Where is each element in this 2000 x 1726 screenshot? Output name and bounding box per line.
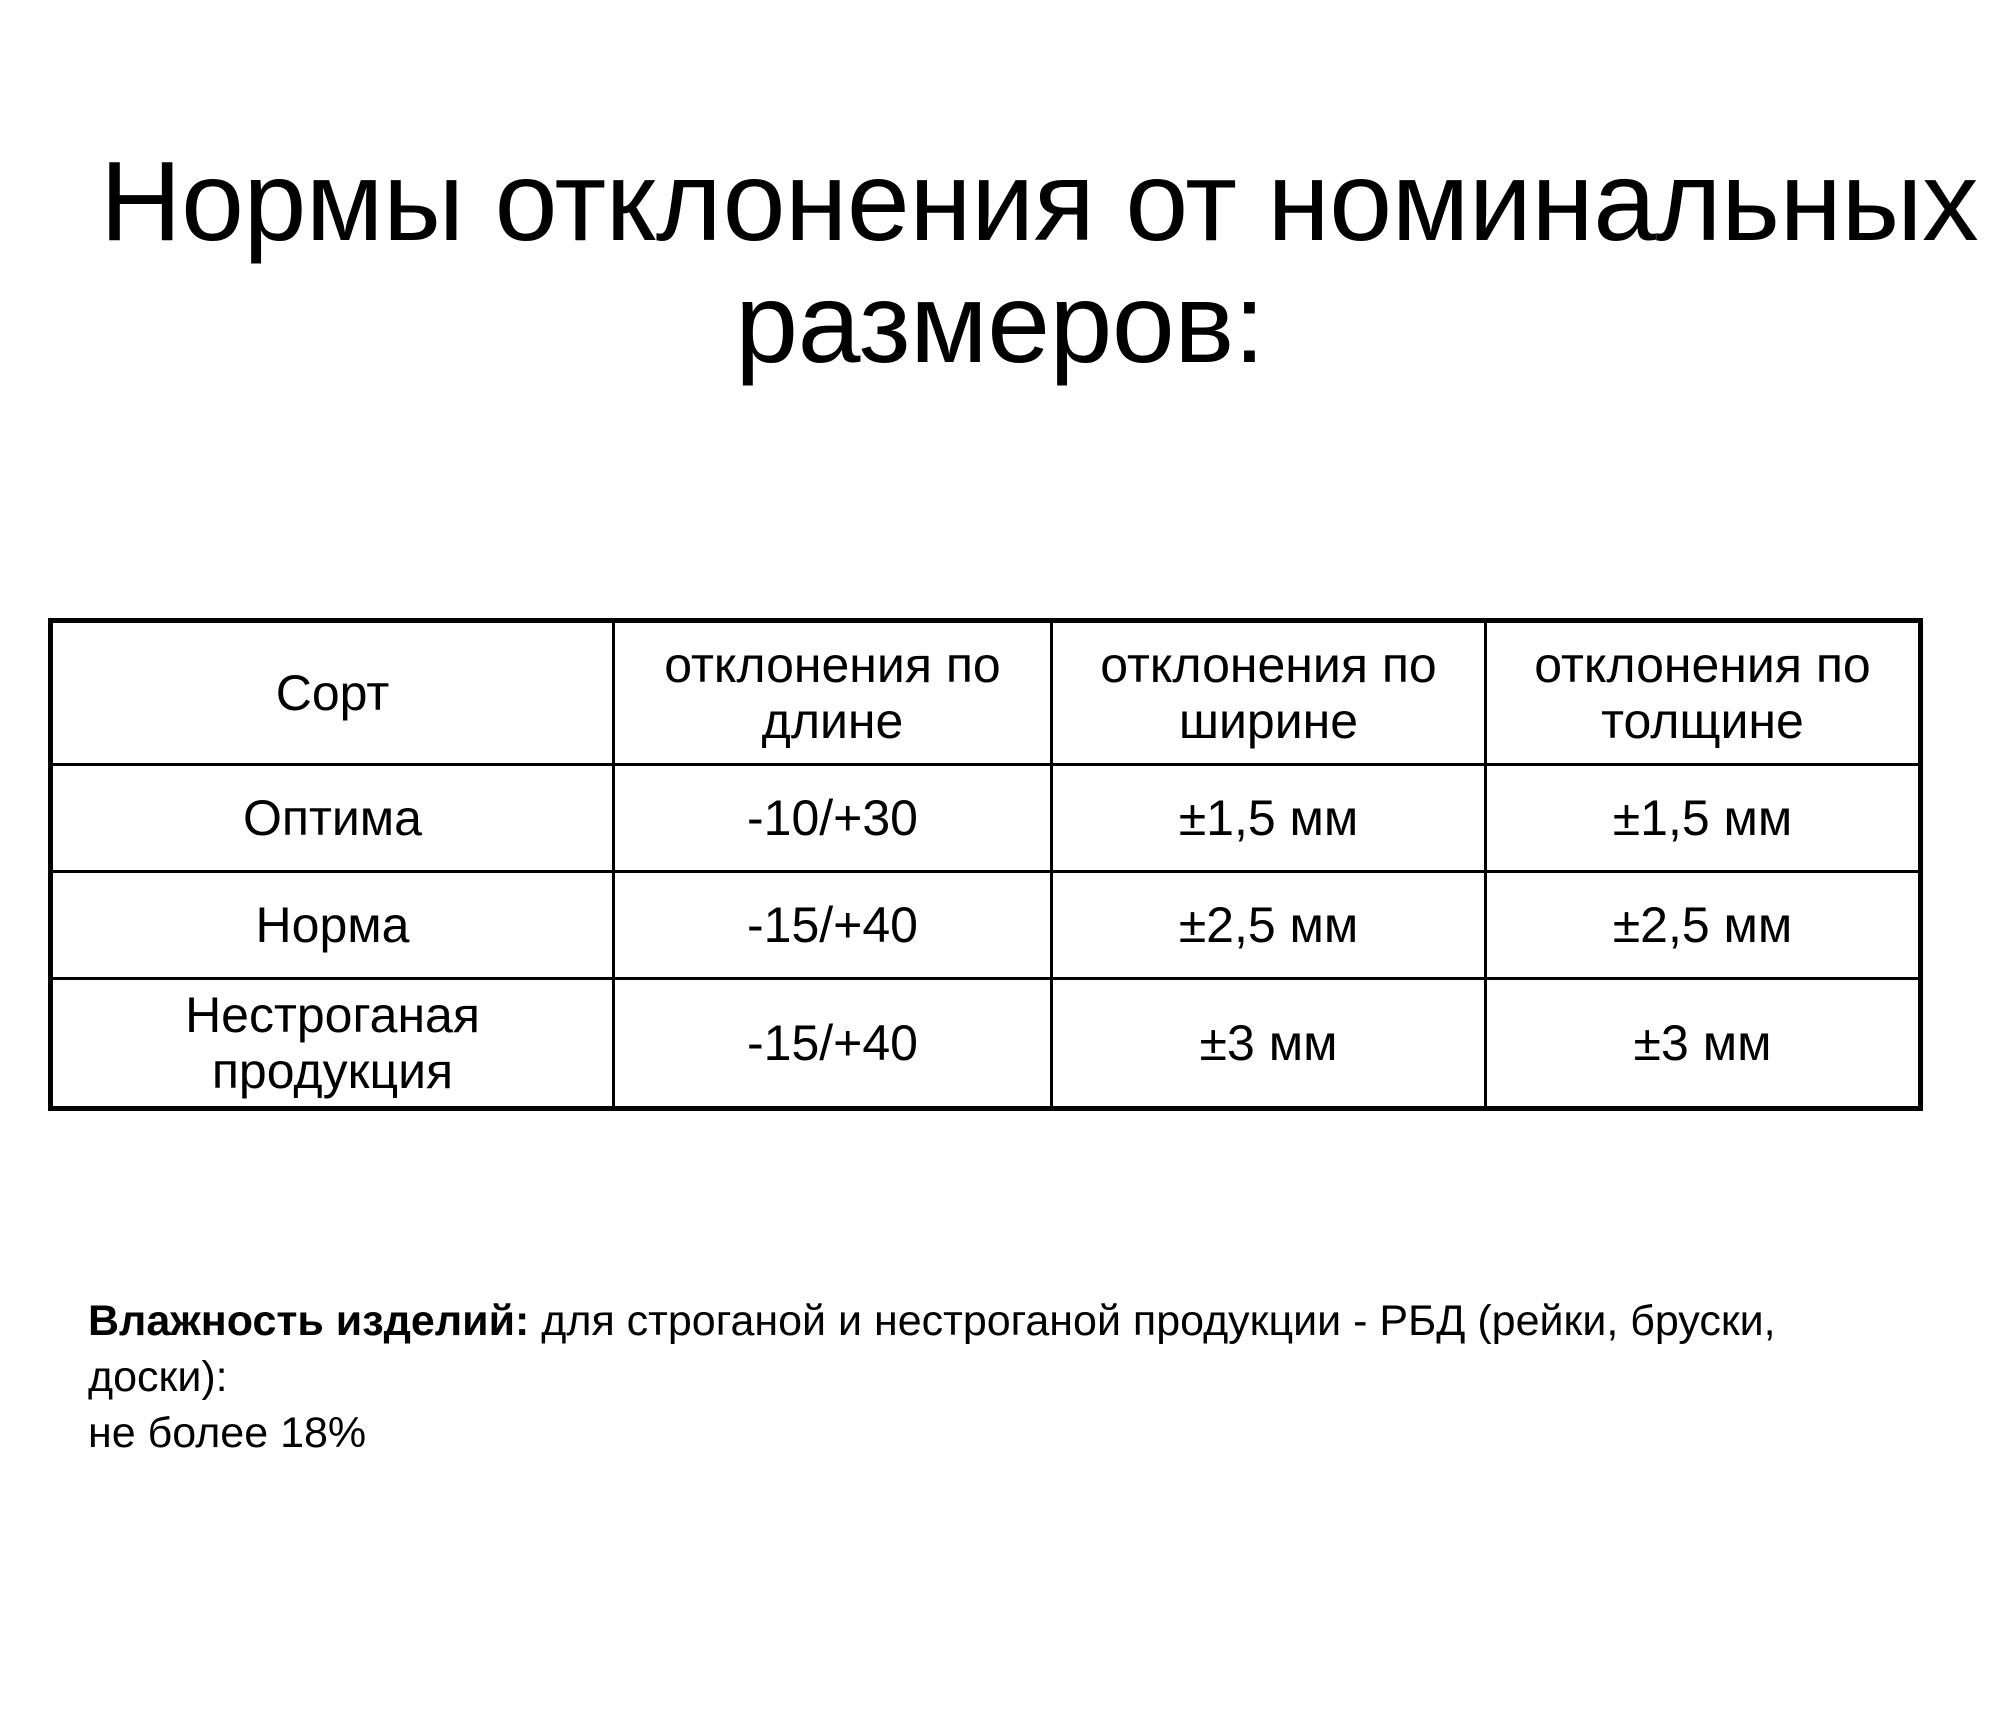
- cell-sort-optima: Оптима: [51, 765, 614, 872]
- moisture-note: Влажность изделий: для строганой и нестр…: [88, 1293, 1888, 1461]
- page-title-line-2: размеров:: [100, 262, 1900, 384]
- slide-canvas: Нормы отклонения от номинальных размеров…: [0, 0, 2000, 1726]
- cell-length-unplaned: -15/+40: [614, 979, 1052, 1109]
- cell-width-norma: ±2,5 мм: [1052, 872, 1486, 979]
- moisture-note-value: не более 18%: [88, 1405, 1888, 1461]
- cell-width-unplaned: ±3 мм: [1052, 979, 1486, 1109]
- deviation-norms-table: Сорт отклонения по длине отклонения по ш…: [48, 618, 1923, 1111]
- table-row: Оптима -10/+30 ±1,5 мм ±1,5 мм: [51, 765, 1921, 872]
- cell-length-norma: -15/+40: [614, 872, 1052, 979]
- table-row: Норма -15/+40 ±2,5 мм ±2,5 мм: [51, 872, 1921, 979]
- cell-thickness-norma: ±2,5 мм: [1486, 872, 1921, 979]
- page-title: Нормы отклонения от номинальных размеров…: [100, 140, 1900, 384]
- table-header-row: Сорт отклонения по длине отклонения по ш…: [51, 621, 1921, 765]
- column-header-sort: Сорт: [51, 621, 614, 765]
- cell-sort-norma: Норма: [51, 872, 614, 979]
- cell-thickness-unplaned: ±3 мм: [1486, 979, 1921, 1109]
- cell-thickness-optima: ±1,5 мм: [1486, 765, 1921, 872]
- column-header-thickness-deviation: отклонения по толщине: [1486, 621, 1921, 765]
- moisture-note-label: Влажность изделий:: [88, 1297, 529, 1345]
- cell-width-optima: ±1,5 мм: [1052, 765, 1486, 872]
- page-title-line-1: Нормы отклонения от номинальных: [100, 140, 1900, 262]
- table-row: Нестроганая продукция -15/+40 ±3 мм ±3 м…: [51, 979, 1921, 1109]
- deviation-norms-table-wrapper: Сорт отклонения по длине отклонения по ш…: [48, 618, 1918, 1111]
- cell-length-optima: -10/+30: [614, 765, 1052, 872]
- cell-sort-unplaned: Нестроганая продукция: [51, 979, 614, 1109]
- column-header-width-deviation: отклонения по ширине: [1052, 621, 1486, 765]
- column-header-length-deviation: отклонения по длине: [614, 621, 1052, 765]
